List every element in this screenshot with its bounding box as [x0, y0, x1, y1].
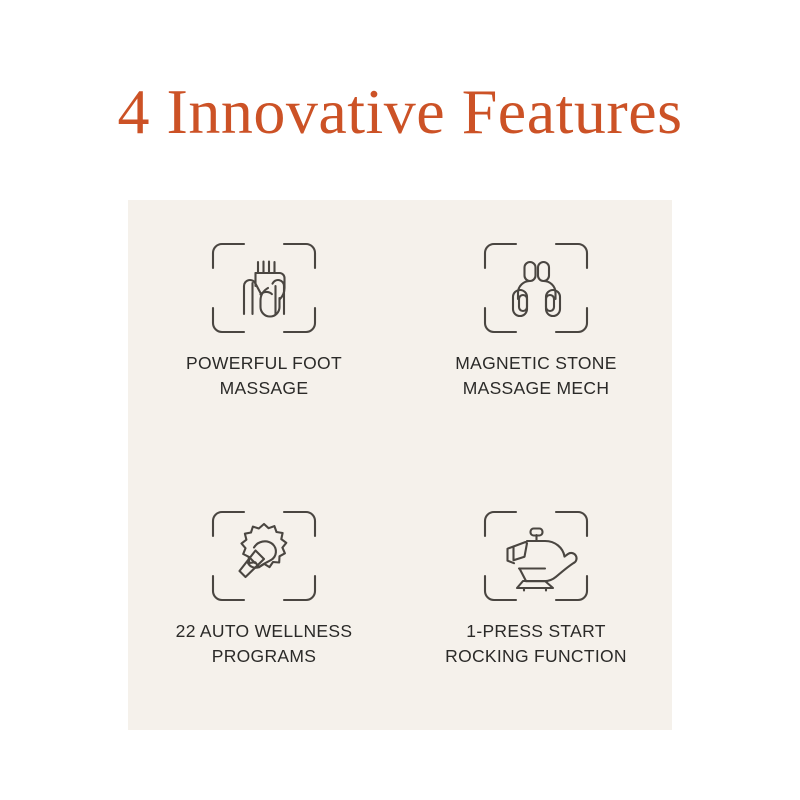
feature-item-auto-wellness-programs[interactable]: 22 AUTO WELLNESS PROGRAMS [128, 465, 400, 730]
page-title-container: 4 Innovative Features [0, 78, 800, 145]
rocking-massage-chair-icon [483, 510, 589, 602]
magnetic-stone-mech-icon [483, 242, 589, 334]
gear-auto-program-icon [211, 510, 317, 602]
feature-item-magnetic-stone-mech[interactable]: MAGNETIC STONE MASSAGE MECH [400, 200, 672, 465]
feature-showcase-page: 4 Innovative Features [0, 0, 800, 800]
feature-label-2: MAGNETIC STONE MASSAGE MECH [455, 351, 616, 402]
feature-label-1: POWERFUL FOOT MASSAGE [186, 351, 342, 402]
icon-frame-2 [483, 242, 589, 334]
feature-label-4: 1-PRESS START ROCKING FUNCTION [445, 619, 627, 670]
feature-item-powerful-foot-massage[interactable]: POWERFUL FOOT MASSAGE [128, 200, 400, 465]
feature-item-rocking-function[interactable]: 1-PRESS START ROCKING FUNCTION [400, 465, 672, 730]
hands-foot-massage-icon [211, 242, 317, 334]
icon-frame-3 [211, 510, 317, 602]
icon-frame-4 [483, 510, 589, 602]
features-panel: POWERFUL FOOT MASSAGE [128, 200, 672, 730]
page-title: 4 Innovative Features [0, 78, 800, 145]
icon-frame-1 [211, 242, 317, 334]
feature-label-3: 22 AUTO WELLNESS PROGRAMS [176, 619, 353, 670]
